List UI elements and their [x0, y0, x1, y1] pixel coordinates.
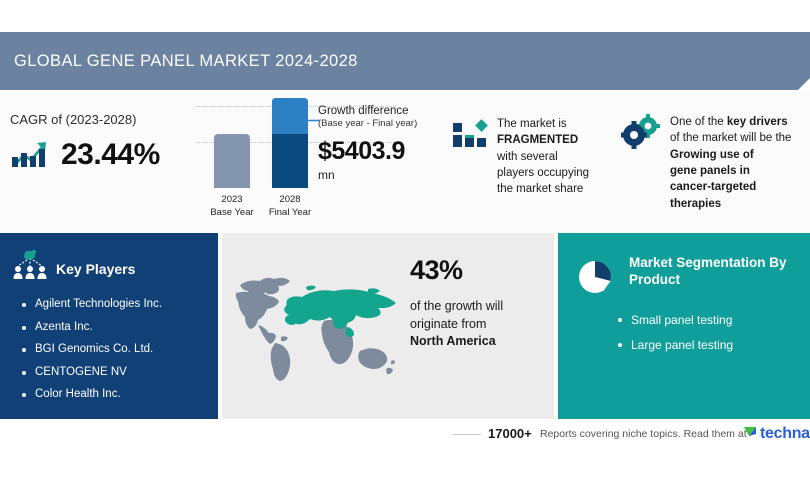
segmentation-header: Market Segmentation By Product [558, 233, 810, 304]
cagr-value: 23.44% [61, 138, 160, 172]
list-item: Color Health Inc. [22, 389, 218, 401]
region-percent: 43% [410, 255, 550, 286]
list-item: BGI Genomics Co. Ltd. [22, 344, 218, 356]
region-stat: 43% of the growth will originate from No… [410, 255, 550, 351]
bar-2023 [214, 134, 250, 188]
footer: 17000+ Reports covering niche topics. Re… [0, 419, 810, 480]
left-arrow-icon [296, 112, 320, 121]
footer-tagline: Reports covering niche topics. Read them… [540, 428, 747, 440]
list-item: Large panel testing [618, 339, 810, 351]
growth-callout-title: Growth difference [318, 104, 458, 118]
growth-callout: Growth difference (Base year - Final yea… [318, 104, 458, 182]
key-players-title: Key Players [56, 261, 135, 277]
market-structure-block: The market is FRAGMENTED with several pl… [452, 116, 609, 198]
region-description: of the growth will originate from North … [410, 298, 550, 351]
market-structure-text: The market is FRAGMENTED with several pl… [497, 116, 609, 198]
segmentation-panel: Market Segmentation By Product Small pan… [558, 233, 810, 419]
key-drivers-text: One of the key drivers of the market wil… [670, 114, 810, 212]
cagr-block: CAGR of (2023-2028) 23.44% [10, 112, 190, 174]
list-item: CENTOGENE NV [22, 367, 218, 379]
bar-label-2023: 2023 Base Year [201, 194, 263, 220]
growth-amount: $5403.9 [318, 137, 458, 166]
technavio-logo[interactable]: technavi [743, 424, 810, 444]
footer-divider [453, 434, 481, 435]
list-item: Azenta Inc. [22, 322, 218, 334]
key-players-header: Key Players [0, 233, 218, 288]
gears-icon [620, 114, 662, 155]
mosaic-squares-icon [452, 116, 488, 157]
top-metrics-strip: CAGR of (2023-2028) 23.44% [0, 90, 810, 233]
key-players-list: Agilent Technologies Inc. Azenta Inc. BG… [0, 299, 218, 401]
region-panel: 43% of the growth will originate from No… [222, 233, 554, 419]
page-title: GLOBAL GENE PANEL MARKET 2024-2028 [0, 52, 358, 71]
footer-report-count: 17000+ [488, 426, 532, 441]
list-item: Small panel testing [618, 314, 810, 326]
key-players-panel: Key Players Agilent Technologies Inc. Az… [0, 233, 218, 419]
growth-unit: mn [318, 168, 458, 182]
middle-row: Key Players Agilent Technologies Inc. Az… [0, 233, 810, 419]
segmentation-title: Market Segmentation By Product [629, 255, 789, 289]
header-bar: GLOBAL GENE PANEL MARKET 2024-2028 [0, 32, 810, 90]
growth-callout-subtitle: (Base year - Final year) [318, 118, 458, 130]
pie-chart-icon [574, 255, 618, 304]
list-item: Agilent Technologies Inc. [22, 299, 218, 311]
infographic-root: GLOBAL GENE PANEL MARKET 2024-2028 CAGR … [0, 0, 810, 480]
org-network-icon [12, 249, 48, 288]
technavio-arrow-icon [743, 424, 758, 444]
key-drivers-block: One of the key drivers of the market wil… [620, 114, 810, 212]
bar-label-2028: 2028 Final Year [259, 194, 321, 220]
cagr-label: CAGR of (2023-2028) [10, 112, 190, 127]
bar-chart-growth-icon [10, 135, 52, 174]
technavio-wordmark: technavi [760, 425, 810, 443]
segmentation-list: Small panel testing Large panel testing [558, 314, 810, 351]
world-map-icon [228, 263, 408, 388]
